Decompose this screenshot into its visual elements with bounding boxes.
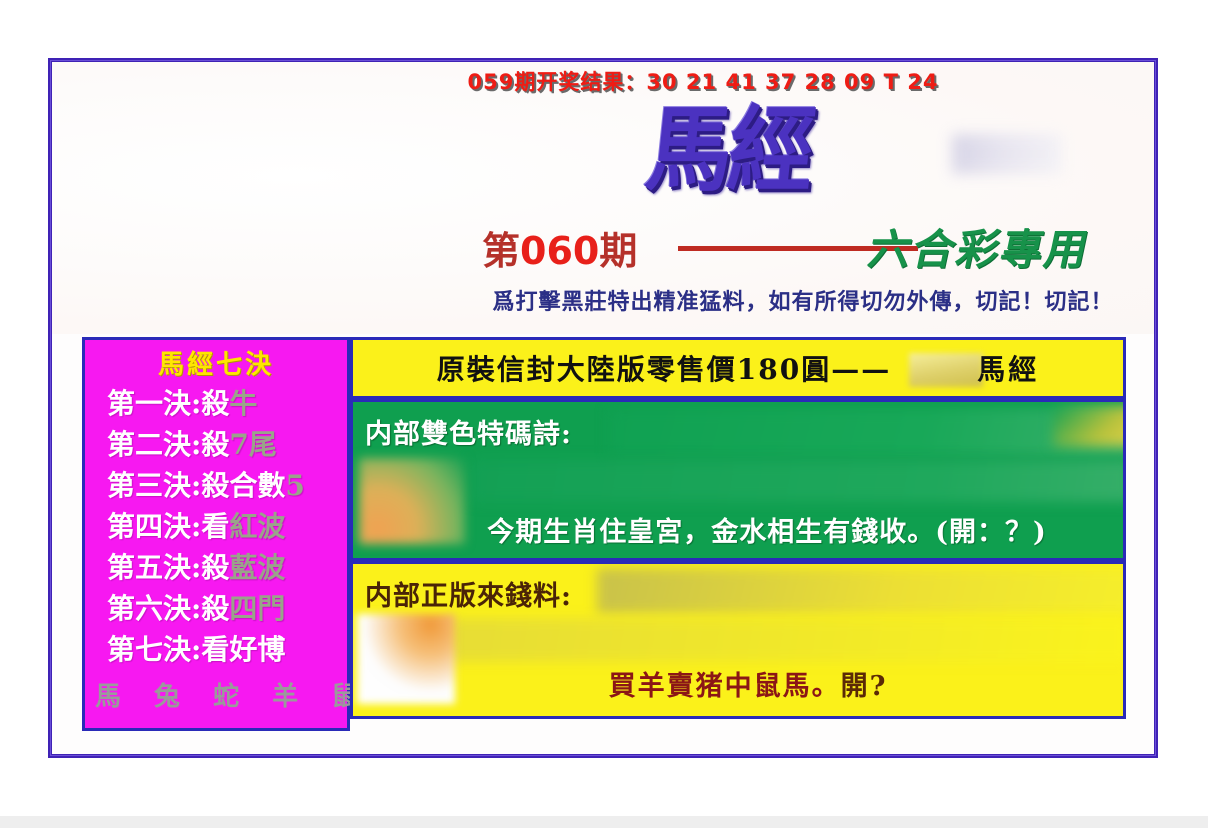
ghost-watermark xyxy=(400,770,820,810)
seven-item-highlight: 7尾 xyxy=(229,428,276,461)
price-banner: 原裝信封大陸版零售價180圓—— 馬經 xyxy=(350,337,1126,399)
body-area: 馬經七決 第一決:殺牛 第二決:殺7尾 第三決:殺合數5 第四決:看紅波 第五決… xyxy=(82,337,1126,731)
issue-suffix: 期 xyxy=(599,228,637,273)
right-column: 原裝信封大陸版零售價180圓—— 馬經 内部雙色特碼詩: 今期生肖住皇宮，金水相… xyxy=(350,337,1126,731)
issue-number: 060 xyxy=(520,229,599,273)
seven-item-highlight: 5 xyxy=(285,469,304,502)
price-censor-block xyxy=(909,353,983,387)
issue-prefix: 第 xyxy=(482,228,520,273)
poster-outer-frame: 059期开奖结果：30 21 41 37 28 09 T 24 馬經 第060期… xyxy=(48,58,1158,758)
seven-secrets-item: 第一決:殺牛 xyxy=(85,383,347,424)
seven-secrets-item: 第七決:看好博 xyxy=(85,629,347,670)
seven-item-label: 第四決:看 xyxy=(107,510,229,543)
notice-text: 爲打擊黑莊特出精准猛料，如有所得切勿外傳，切記！切記！ xyxy=(52,284,1154,316)
logo-blur-artifact xyxy=(952,134,1062,174)
price-banner-brand: 馬經 xyxy=(977,348,1039,388)
lottery-tagline: 六合彩專用 xyxy=(864,216,1097,277)
seven-item-label: 第七決:看好博 xyxy=(107,633,285,666)
price-banner-text: 原裝信封大陸版零售價180圓—— xyxy=(437,348,891,388)
secret-poem-block: 内部雙色特碼詩: 今期生肖住皇宮，金水相生有錢收。(開：？) xyxy=(350,399,1126,561)
brand-logo: 馬經 xyxy=(652,100,972,200)
money-tip-block: 内部正版來錢料: 買羊賣猪中鼠馬。開? xyxy=(350,561,1126,719)
issue-row: 第060期 六合彩專用 xyxy=(482,220,1154,278)
poster-page: 059期开奖结果：30 21 41 37 28 09 T 24 馬經 第060期… xyxy=(0,0,1208,828)
seven-secrets-item: 第二決:殺7尾 xyxy=(85,424,347,465)
seven-item-label: 第六決:殺 xyxy=(107,592,229,625)
secret-poem-label: 内部雙色特碼詩: xyxy=(365,412,572,451)
poem-censor-corner xyxy=(1053,406,1126,446)
seven-item-highlight: 牛 xyxy=(229,387,257,420)
zodiac-picks-row: 馬 兔 蛇 羊 鼠 xyxy=(85,676,347,713)
seven-item-highlight: 四門 xyxy=(229,592,285,625)
masthead: 059期开奖结果：30 21 41 37 28 09 T 24 馬經 第060期… xyxy=(52,62,1154,334)
money-censor-bar-2 xyxy=(449,618,1126,662)
money-censor-bar-1 xyxy=(597,568,1126,614)
seven-item-label: 第三決:殺合數 xyxy=(107,469,285,502)
seven-secrets-item: 第四決:看紅波 xyxy=(85,506,347,547)
brand-logo-text: 馬經 xyxy=(641,100,972,202)
secret-poem-line: 今期生肖住皇宮，金水相生有錢收。(開：？) xyxy=(353,510,1123,549)
seven-item-highlight: 藍波 xyxy=(229,551,285,584)
seven-secrets-title: 馬經七決 xyxy=(85,344,347,381)
bottom-strip xyxy=(0,816,1208,828)
draw-result-text: 059期开奖结果：30 21 41 37 28 09 T 24 xyxy=(52,66,1154,96)
seven-secrets-item: 第五決:殺藍波 xyxy=(85,547,347,588)
money-tip-open: 開? xyxy=(841,671,888,702)
poem-censor-bar-1 xyxy=(609,408,1126,456)
seven-item-label: 第一決:殺 xyxy=(107,387,229,420)
money-tip-line: 買羊賣猪中鼠馬。開? xyxy=(353,664,1123,703)
seven-item-label: 第五決:殺 xyxy=(107,551,229,584)
issue-label: 第060期 xyxy=(482,220,637,275)
seven-secrets-panel: 馬經七決 第一決:殺牛 第二決:殺7尾 第三決:殺合數5 第四決:看紅波 第五決… xyxy=(82,337,350,731)
money-tip-text: 買羊賣猪中鼠馬。 xyxy=(609,671,841,702)
seven-item-highlight: 紅波 xyxy=(229,510,285,543)
seven-item-label: 第二決:殺 xyxy=(107,428,229,461)
poem-censor-bar-2 xyxy=(471,460,1126,502)
seven-secrets-item: 第六決:殺四門 xyxy=(85,588,347,629)
money-tip-label: 内部正版來錢料: xyxy=(365,574,572,613)
seven-secrets-item: 第三決:殺合數5 xyxy=(85,465,347,506)
